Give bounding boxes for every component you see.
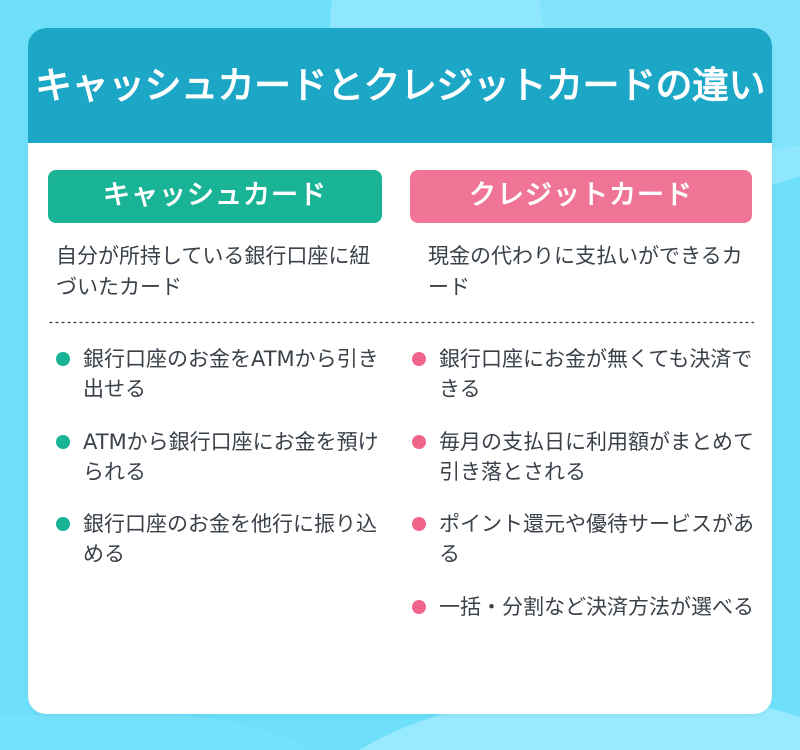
list-item: ATMから銀行口座にお金を預けられる bbox=[56, 427, 386, 487]
list-item: 銀行口座のお金を他行に振り込める bbox=[56, 509, 386, 569]
list-item-label: 銀行口座にお金が無くても決済できる bbox=[439, 347, 752, 401]
list-item-label: 一括・分割など決済方法が選べる bbox=[439, 595, 754, 619]
feature-list-cash-card: 銀行口座のお金をATMから引き出せる ATMから銀行口座にお金を預けられる 銀行… bbox=[28, 344, 400, 644]
bullet-dot-icon bbox=[56, 352, 70, 366]
list-item: 毎月の支払日に利用額がまとめて引き落とされる bbox=[412, 427, 754, 487]
bullet-dot-icon bbox=[412, 435, 426, 449]
feature-lists: 銀行口座のお金をATMから引き出せる ATMから銀行口座にお金を預けられる 銀行… bbox=[28, 324, 772, 644]
background-blob-bottom-left bbox=[0, 715, 330, 750]
feature-list-credit-card: 銀行口座にお金が無くても決済できる 毎月の支払日に利用額がまとめて引き落とされる… bbox=[400, 344, 772, 644]
bullet-dot-icon bbox=[412, 352, 426, 366]
bullet-dot-icon bbox=[412, 517, 426, 531]
column-cash-card: キャッシュカード 自分が所持している銀行口座に紐づいたカード bbox=[28, 143, 400, 303]
list-item-label: 銀行口座のお金をATMから引き出せる bbox=[83, 347, 379, 401]
list-item: ポイント還元や優待サービスがある bbox=[412, 509, 754, 569]
list-item-label: 銀行口座のお金を他行に振り込める bbox=[83, 512, 377, 566]
list-item: 銀行口座にお金が無くても決済できる bbox=[412, 344, 754, 404]
pill-cash-card: キャッシュカード bbox=[48, 170, 382, 223]
column-credit-card: クレジットカード 現金の代わりに支払いができるカード bbox=[400, 143, 772, 303]
list-item: 銀行口座のお金をATMから引き出せる bbox=[56, 344, 386, 404]
bullet-dot-icon bbox=[56, 435, 70, 449]
card-body: キャッシュカード 自分が所持している銀行口座に紐づいたカード クレジットカード … bbox=[28, 143, 772, 644]
card-header: キャッシュカードとクレジットカードの違い bbox=[28, 28, 772, 143]
bullet-dot-icon bbox=[56, 517, 70, 531]
summary-credit-card: 現金の代わりに支払いができるカード bbox=[410, 241, 752, 303]
list-item-label: 毎月の支払日に利用額がまとめて引き落とされる bbox=[439, 430, 754, 484]
column-headers: キャッシュカード 自分が所持している銀行口座に紐づいたカード クレジットカード … bbox=[28, 143, 772, 303]
list-item-label: ポイント還元や優待サービスがある bbox=[439, 512, 754, 566]
summary-cash-card: 自分が所持している銀行口座に紐づいたカード bbox=[48, 241, 382, 303]
comparison-card: キャッシュカードとクレジットカードの違い キャッシュカード 自分が所持している銀… bbox=[28, 28, 772, 714]
list-item-label: ATMから銀行口座にお金を預けられる bbox=[83, 430, 379, 484]
pill-credit-card: クレジットカード bbox=[410, 170, 752, 223]
bullet-dot-icon bbox=[412, 600, 426, 614]
page-title: キャッシュカードとクレジットカードの違い bbox=[35, 67, 765, 104]
list-item: 一括・分割など決済方法が選べる bbox=[412, 592, 754, 622]
